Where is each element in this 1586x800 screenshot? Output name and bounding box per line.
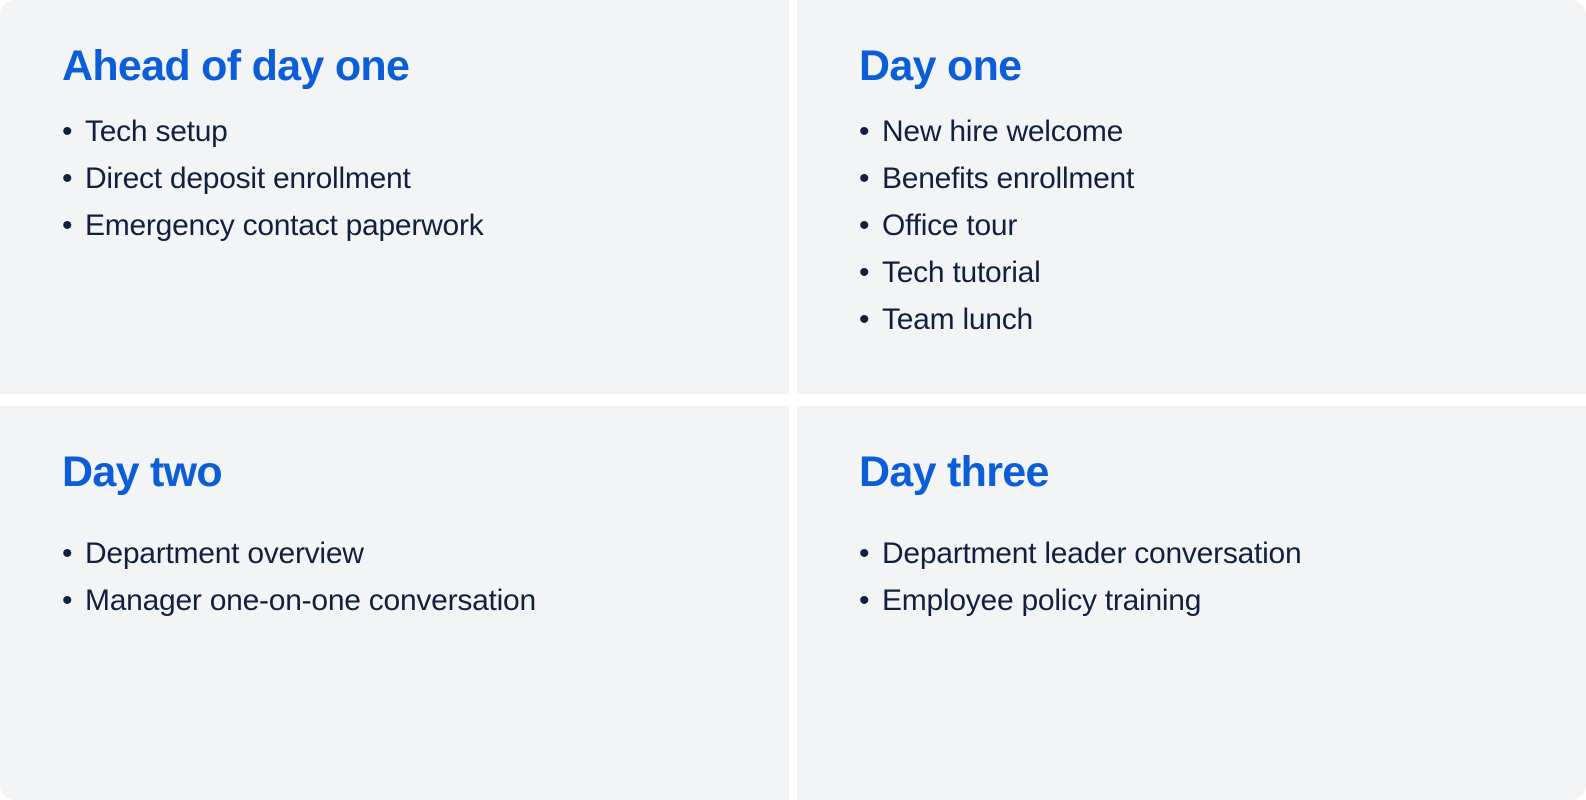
card-title-day-two: Day two bbox=[62, 450, 759, 496]
list-item-label: Benefits enrollment bbox=[882, 162, 1134, 195]
card-list-day-two: •Department overview •Manager one-on-one… bbox=[62, 530, 759, 624]
list-item-label: Team lunch bbox=[882, 303, 1033, 336]
bullet-icon: • bbox=[62, 577, 72, 624]
list-item: •Benefits enrollment bbox=[859, 155, 1556, 202]
bullet-icon: • bbox=[859, 202, 869, 249]
bullet-icon: • bbox=[859, 577, 869, 624]
card-ahead-of-day-one: Ahead of day one •Tech setup •Direct dep… bbox=[0, 0, 789, 394]
bullet-icon: • bbox=[859, 155, 869, 202]
list-item: •Office tour bbox=[859, 202, 1556, 249]
list-item-label: Manager one-on-one conversation bbox=[85, 584, 536, 617]
list-item-label: Department overview bbox=[85, 537, 364, 570]
bullet-icon: • bbox=[859, 249, 869, 296]
card-list-ahead-of-day-one: •Tech setup •Direct deposit enrollment •… bbox=[62, 108, 759, 249]
card-title-ahead-of-day-one: Ahead of day one bbox=[62, 44, 759, 90]
card-title-day-three: Day three bbox=[859, 450, 1556, 496]
list-item: •Tech setup bbox=[62, 108, 759, 155]
card-list-day-three: •Department leader conversation •Employe… bbox=[859, 530, 1556, 624]
list-item: •New hire welcome bbox=[859, 108, 1556, 155]
card-day-two: Day two •Department overview •Manager on… bbox=[0, 406, 789, 800]
list-item: •Tech tutorial bbox=[859, 249, 1556, 296]
list-item: •Department leader conversation bbox=[859, 530, 1556, 577]
list-item-label: Department leader conversation bbox=[882, 537, 1301, 570]
card-day-one: Day one •New hire welcome •Benefits enro… bbox=[797, 0, 1586, 394]
list-item-label: Emergency contact paperwork bbox=[85, 209, 483, 242]
list-item: •Team lunch bbox=[859, 296, 1556, 343]
list-item-label: Employee policy training bbox=[882, 584, 1201, 617]
bullet-icon: • bbox=[62, 530, 72, 577]
bullet-icon: • bbox=[62, 108, 72, 155]
list-item: •Department overview bbox=[62, 530, 759, 577]
card-title-day-one: Day one bbox=[859, 44, 1556, 90]
list-item: •Emergency contact paperwork bbox=[62, 202, 759, 249]
bullet-icon: • bbox=[859, 296, 869, 343]
list-item-label: Tech tutorial bbox=[882, 256, 1041, 289]
list-item: •Employee policy training bbox=[859, 577, 1556, 624]
bullet-icon: • bbox=[62, 155, 72, 202]
list-item: •Manager one-on-one conversation bbox=[62, 577, 759, 624]
list-item-label: Direct deposit enrollment bbox=[85, 162, 411, 195]
onboarding-timeline-grid: Ahead of day one •Tech setup •Direct dep… bbox=[0, 0, 1586, 800]
bullet-icon: • bbox=[859, 530, 869, 577]
card-list-day-one: •New hire welcome •Benefits enrollment •… bbox=[859, 108, 1556, 343]
list-item-label: Tech setup bbox=[85, 115, 228, 148]
card-day-three: Day three •Department leader conversatio… bbox=[797, 406, 1586, 800]
list-item: •Direct deposit enrollment bbox=[62, 155, 759, 202]
bullet-icon: • bbox=[859, 108, 869, 155]
bullet-icon: • bbox=[62, 202, 72, 249]
list-item-label: New hire welcome bbox=[882, 115, 1123, 148]
list-item-label: Office tour bbox=[882, 209, 1017, 242]
